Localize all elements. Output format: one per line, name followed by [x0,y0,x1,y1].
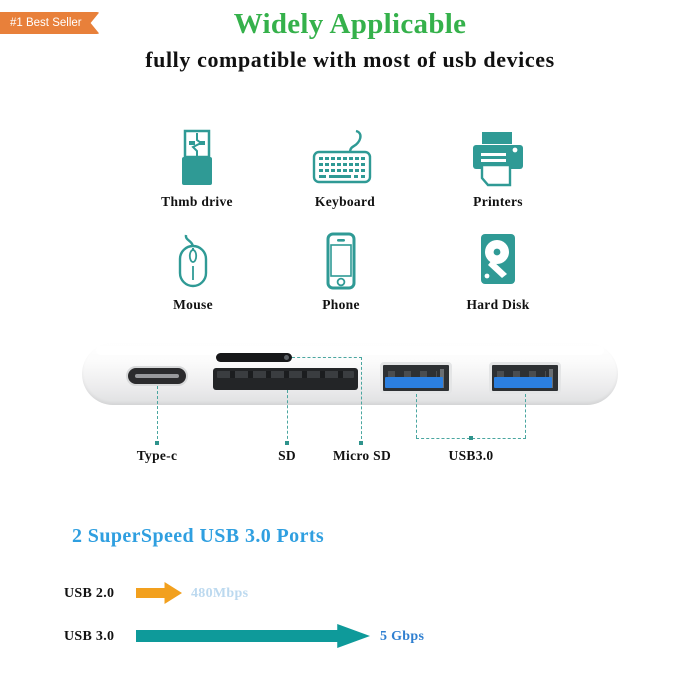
usb3-port-1 [380,362,452,394]
callout-usb3: USB3.0 [425,448,517,464]
device-item-phone: Phone [271,228,411,313]
usb3-row-label: USB 3.0 [64,629,114,645]
micro-sd-card-slot [216,353,292,362]
device-label: Printers [428,194,568,210]
usb-thumb-drive-icon [127,125,267,187]
mouse-icon [123,228,263,290]
usb-blue-tongue [385,377,443,388]
leader-dot-type-c [155,441,159,445]
page-title: Widely Applicable [0,8,700,41]
usb3-port-2 [489,362,561,394]
phone-icon [271,228,411,290]
page-subtitle: fully compatible with most of usb device… [0,47,700,73]
callout-type-c: Type-c [107,448,207,464]
leader-line-usb3-left [416,394,417,438]
device-item-printer: Printers [428,125,568,210]
hard-disk-icon [428,228,568,290]
product-infographic: #1 Best Seller Widely Applicable fully c… [0,0,700,700]
leader-line-type-c [157,386,158,444]
leader-line-usb3-right [525,394,526,438]
usb2-speed-arrow [136,582,182,604]
usb2-row-label: USB 2.0 [64,586,114,602]
keyboard-icon [275,125,415,187]
device-label: Phone [271,297,411,313]
device-item-thumb-drive: Thmb drive [127,125,267,210]
leader-line-micro-sd-vertical [361,357,362,444]
usb-blue-tongue [494,377,552,388]
device-label: Keyboard [275,194,415,210]
device-label: Thmb drive [127,194,267,210]
device-label: Hard Disk [428,297,568,313]
device-label: Mouse [123,297,263,313]
speed-section-title: 2 SuperSpeed USB 3.0 Ports [72,525,324,548]
usb3-speed-value: 5 Gbps [380,629,424,645]
device-item-hard-disk: Hard Disk [428,228,568,313]
leader-line-micro-sd-horizontal [292,357,362,358]
type-c-port [126,366,188,386]
callout-micro-sd: Micro SD [317,448,407,464]
usb2-speed-value: 480Mbps [191,586,248,602]
sd-card-slot [213,368,358,390]
device-item-keyboard: Keyboard [275,125,415,210]
usb3-speed-arrow [136,624,370,648]
leader-dot-usb3 [469,436,473,440]
leader-line-sd [287,390,288,444]
leader-dot-sd [285,441,289,445]
printer-icon [428,125,568,187]
device-item-mouse: Mouse [123,228,263,313]
leader-dot-micro-sd [359,441,363,445]
